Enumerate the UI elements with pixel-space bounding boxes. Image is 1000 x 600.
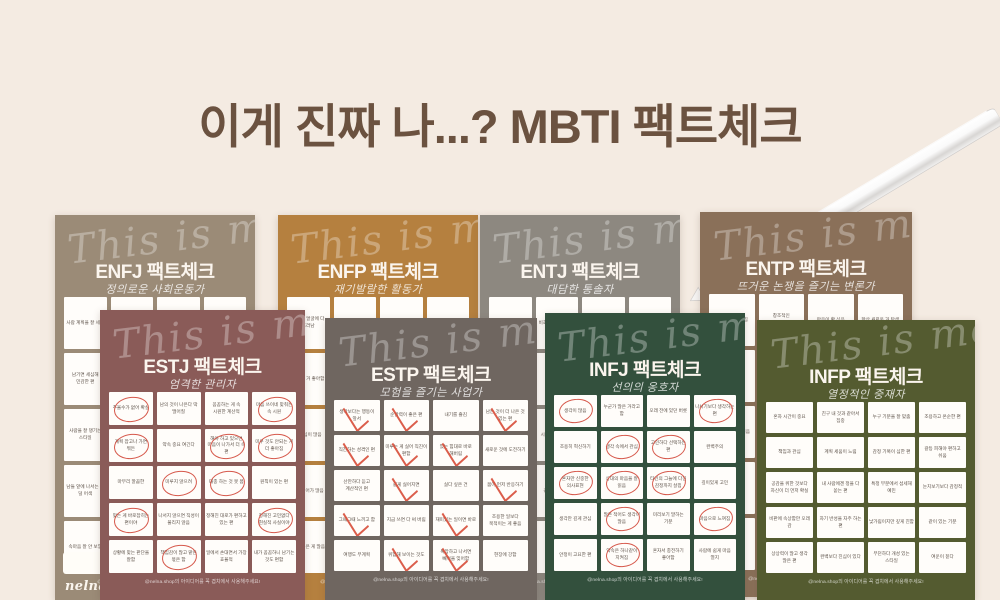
cell-label: 완벽보다 진심이 있다 [820,554,861,561]
cell-label: 계획 잡고나 가면 뭐든 [110,439,152,452]
cell-label: 내 사람에겐 정을 다 쏟는 편 [818,481,863,494]
cell-label: 정해진 대로가 편하고 있는 편 [206,513,248,526]
card-subtitle: 엄격한 관리자 [100,376,305,392]
card-subtitle: 정의로운 사회운동가 [55,281,255,297]
mbti-card-estp[interactable]: This is me!ESTP 팩트체크모험을 즐기는 사업가생각보다는 행동이… [325,318,537,600]
fact-check-cell[interactable]: 재미있는 일이면 바로 [433,505,479,536]
card-title: ENTP 팩트체크 [700,254,912,281]
fact-check-cell[interactable]: 갈등 피해야 편하고 쉬움 [919,437,966,468]
fact-check-cell[interactable]: 여운이 짙다 [919,542,966,573]
fact-check-cell[interactable]: 안정이 고요한 편 [554,539,597,571]
cell-label: 타인의 그늘에 다친 감정까지 살핌 [648,476,689,489]
card-header: This is me!INFP 팩트체크열정적인 중재자 [757,320,975,402]
fact-check-cell[interactable]: 무던하다 개성 있는 스타일 [868,542,915,573]
card-footer-credit: @nelna.shop의 아이디어를 꼭 겹치에서 사용해주세요! [100,573,305,585]
cell-label: 눈치보기보다 감정적 [923,484,962,491]
fact-check-cell[interactable]: 내가 꼼꼼하니 남기는 것도 편함 [252,540,296,573]
fact-check-cell[interactable]: 상대의 마음을 잘 읽음 [601,467,644,499]
cell-label: 혼자서 충전하기 좋아함 [648,548,689,561]
cell-label: 상상력이 많고 생각 많은 편 [767,551,812,564]
fact-check-cell[interactable]: 산만하다 듣고 계산적인 편 [334,470,380,501]
fact-check-cell[interactable]: 약속 중요 여긴다 [157,429,201,462]
fact-check-cell[interactable]: 생각보다는 행동이 앞서 [334,400,380,431]
mbti-card-infj[interactable]: This is me!INFJ 팩트체크선의의 옹호자생각이 많음누군가 많은 … [545,313,745,600]
cell-label: 누구 기분을 잘 맞춤 [873,414,911,421]
cell-label: 여행도 무계획 [343,552,370,559]
fact-check-cell[interactable]: 같이 있는 기분 [919,507,966,538]
cell-label: 비판에 속상함만 오래 감 [767,516,812,529]
card-title: INFP 팩트체크 [757,362,975,389]
fact-check-cell[interactable]: 고민하다 선택하는 편 [647,431,690,463]
fact-check-cell[interactable]: 정해진 고민없다 현실적 사실이야 [252,503,296,536]
fact-check-cell[interactable]: 누구 기분을 잘 맞춤 [868,402,915,433]
cell-label: 여운이 짙다 [931,554,953,561]
cell-label: 꼼꼼하는 게 속 시원한 계산적 [206,402,248,415]
cell-label: 누군가 많은 거라고 함 [602,404,643,417]
card-footer-credit: @nelna.shop의 아이디어를 꼭 겹치에서 사용해주세요! [325,571,537,583]
cell-label: 약속은 하나같이 지켜짐 [602,548,643,561]
cell-label: 나서기보다 생각하는 편 [695,404,736,417]
cell-label: 남는 것이 더 나은 것 있는 편 [484,409,528,422]
cell-label: 같이 있는 기분 [929,519,957,526]
cell-label: 나서지 않으면 직성이 풀리지 않음 [158,513,200,526]
cell-label: 내가 꼼꼼하니 남기는 것도 편함 [253,550,295,563]
card-footer-credit: @nelna.shop의 아이디어를 꼭 겹치에서 사용해주세요! [545,571,745,583]
fact-check-cell[interactable]: 남의 것이 나은다 딱 떨어질 [157,392,201,425]
cell-label: 깊이있게 고민 [701,480,728,487]
fact-check-cell[interactable]: 몸이 먼저 반응하기 [483,470,529,501]
fact-check-cell[interactable]: 특정 부분에서 섬세해 예민 [868,472,915,503]
fact-check-cell[interactable]: 상상력이 많고 생각 많은 편 [766,542,813,573]
cell-label: 직진하는 성격인 편 [339,447,375,454]
page-title: 이게 진짜 나...? MBTI 팩트체크 [0,88,1000,157]
fact-check-cell[interactable]: 눈치보기보다 감정적 [919,472,966,503]
cell-label: 공감을 위한 것보다 자신이 더 먼저 확실 [767,481,812,494]
cell-label: 미루지 않으려 [165,479,192,486]
fact-check-grid: 생각보다는 행동이 앞서순발력이 좋은 편내기를 즐김남는 것이 더 나은 것 … [325,400,537,571]
fact-check-cell[interactable]: 생각만 깊게 관심 [554,503,597,535]
fact-check-cell[interactable]: 미루지 않으려 [157,466,201,499]
fact-check-cell[interactable]: 여행도 무계획 [334,540,380,571]
fact-check-grid: 추울수가 없어 확실남의 것이 나은다 딱 떨어질꼼꼼하는 게 속 시원한 계산… [100,392,305,573]
fact-check-cell[interactable]: 쉽게 싫어지면 [384,470,430,501]
cell-label: 현장에 강함 [494,552,516,559]
fact-check-cell[interactable]: 낯가림이지만 깊게 친함 [868,507,915,538]
cell-label: 대충 하는 것 못 봄 [209,479,244,486]
cell-label: 상대의 마음을 잘 읽음 [602,476,643,489]
fact-check-cell[interactable]: 직진하는 성격인 편 [334,435,380,466]
fact-check-cell[interactable]: 깊이있게 고민 [694,467,737,499]
cell-label: 맞는 게 바로잡히는 편이야 [110,513,152,526]
cell-label: 몸이 먼저 반응하기 [487,482,523,489]
fact-check-cell[interactable]: 맞는 게 바로잡히는 편이야 [109,503,153,536]
fact-check-cell[interactable]: 혼자서 충전하기 좋아함 [647,539,690,571]
fact-check-cell[interactable]: 복잡하고 나서면 빼먹을 잊어함 [433,540,479,571]
fact-check-cell[interactable]: 계획 세움이 느림 [817,437,864,468]
fact-check-cell[interactable]: 말은 적어도 생각이 많음 [601,503,644,535]
fact-check-cell[interactable]: 그때그때 느끼고 함 [334,505,380,536]
card-subtitle: 선의의 옹호자 [545,379,745,395]
fact-check-cell[interactable]: 비판에 속상함만 오래 감 [766,507,813,538]
fact-check-cell[interactable]: 생각 속에서 관심 [601,431,644,463]
cell-label: 완벽주의 [706,444,723,451]
card-subtitle: 재기발랄한 활동가 [278,281,478,297]
cell-label: 쉽게 싫어지면 [393,482,420,489]
cell-label: 사람에 쉽게 마음 열지 [695,548,736,561]
fact-check-cell[interactable]: 대충 하는 것 못 봄 [205,466,249,499]
fact-check-cell[interactable]: 친구 내 것과 같아서 집중 [817,402,864,433]
cell-label: 낯가림이지만 깊게 친함 [869,519,914,526]
cell-label: 생각 속에서 관심 [606,444,638,451]
cell-label: 생각만 깊게 관심 [559,516,591,523]
card-subtitle: 대담한 통솔자 [480,281,680,297]
cell-label: 자기 반성을 자주 하는 편 [818,516,863,529]
fact-check-grid: 생각이 많음누군가 많은 거라고 함오래 전에 있던 버릇나서기보다 생각하는 … [545,395,745,571]
card-title: ESTJ 팩트체크 [100,352,305,379]
card-title: ENFJ 팩트체크 [55,257,255,284]
cell-label: 약속 중요 여긴다 [163,442,195,449]
fact-check-cell[interactable]: 새로운 것에 도전하기 [483,435,529,466]
cell-label: 혼자만 신중한 의사표현 [555,476,596,489]
cell-label: 조용하고 온순한 편 [924,414,960,421]
fact-check-cell[interactable]: 마음으로 느껴짐 [694,503,737,535]
fact-check-cell[interactable]: 지금 쓰면 다 써 버림 [384,505,430,536]
cell-label: 남의 것이 나은다 딱 떨어질 [158,402,200,415]
fact-check-cell[interactable]: 현장에 강함 [483,540,529,571]
cell-label: 조용한 일보다 북적이는 게 좋음 [484,514,528,527]
fact-check-cell[interactable]: 해야 하고 있으면 마음이 나가서 더 속 편 [205,429,249,462]
cell-label: 생각보다는 행동이 앞서 [335,409,379,422]
fact-check-cell[interactable]: 마무리 깔끔한 [109,466,153,499]
cell-label: 새로운 것에 도전하기 [485,447,526,454]
cell-label: 재미있는 일이면 바로 [435,517,476,524]
cell-label: 친구 내 것과 같아서 집중 [818,411,863,424]
fact-check-cell[interactable]: 완벽주의 [694,431,737,463]
card-title: ENTJ 팩트체크 [480,257,680,284]
fact-check-cell[interactable]: 약속은 하나같이 지켜짐 [601,539,644,571]
cell-label: 마음으로 느껴짐 [699,516,730,523]
fact-check-cell[interactable]: 내기를 즐김 [433,400,479,431]
fact-check-cell[interactable]: 마음 쓰이네 맞춰는 속 시원 [252,392,296,425]
cell-label: 계획 세움이 느림 [824,449,856,456]
card-footer-credit: @nelna.shop의 아이디어를 꼭 겹치에서 사용해주세요! [757,573,975,585]
card-title: INFJ 팩트체크 [545,355,745,382]
cell-label: 지금 쓰면 다 써 버림 [387,517,426,524]
card-title: ENFP 팩트체크 [278,257,478,284]
cell-label: 미루는 게 싫어 직진이 편함 [385,444,429,457]
card-title: ESTP 팩트체크 [325,360,537,387]
cell-label: 내기를 즐김 [445,412,467,419]
card-subtitle: 뜨거운 논쟁을 즐기는 변론가 [700,278,912,294]
fact-check-cell[interactable]: 타인의 그늘에 다친 감정까지 살핌 [647,467,690,499]
cell-label: 고민하다 선택하는 편 [648,440,689,453]
fact-check-cell[interactable]: 내 사람에겐 정을 다 쏟는 편 [817,472,864,503]
fact-check-cell[interactable]: 위험해 보이는 것도 [384,540,430,571]
fact-check-cell[interactable]: 있는 힘대로 바로 해버림 [433,435,479,466]
fact-check-cell[interactable]: 추울수가 없어 확실 [109,392,153,425]
mbti-card-estj[interactable]: This is me!ESTJ 팩트체크엄격한 관리자추울수가 없어 확실남의 … [100,310,305,600]
cell-label: 혼자 시간이 중요 [773,414,805,421]
cell-label: 정해진 고민없다 현실적 사실이야 [253,513,295,526]
cell-label: 안정이 고요한 편 [559,552,591,559]
card-header: This is me!ESTJ 팩트체크엄격한 관리자 [100,310,305,392]
cell-label: 산만하다 듣고 계산적인 편 [335,479,379,492]
cell-label: 상황에 맞는 판단을 잘함 [110,550,152,563]
card-subtitle: 열정적인 중재자 [757,386,975,402]
cell-label: 책임과 관심 [778,449,800,456]
cell-label: 위험해 보이는 것도 [388,552,424,559]
cell-label: 책임감이 많고 맡은 몫은 함 [158,550,200,563]
cell-label: 순발력이 좋은 편 [390,412,422,419]
fact-check-cell[interactable]: 일에서 손대면서 가장 효율적 [205,540,249,573]
fact-check-cell[interactable]: 정해진 대로가 편하고 있는 편 [205,503,249,536]
mbti-card-infp[interactable]: This is me!INFP 팩트체크열정적인 중재자혼자 시간이 중요친구 … [757,320,975,600]
fact-check-cell[interactable]: 조용한 일보다 북적이는 게 좋음 [483,505,529,536]
cell-label: 마무리 깔끔한 [118,479,145,486]
fact-check-cell[interactable]: 완벽보다 진심이 있다 [817,542,864,573]
cell-label: 그때그때 느끼고 함 [339,517,375,524]
fact-check-cell[interactable]: 누군가 많은 거라고 함 [601,395,644,427]
cell-label: 추울수가 없어 확실 [113,405,149,412]
fact-check-cell[interactable]: 책임과 관심 [766,437,813,468]
cell-label: 해야 하고 있으면 마음이 나가서 더 속 편 [206,436,248,456]
fact-check-cell[interactable]: 남는 것이 더 나은 것 있는 편 [483,400,529,431]
cell-label: 특정 부분에서 섬세해 예민 [869,481,914,494]
cell-label: 생각이 많음 [564,408,586,415]
fact-check-cell[interactable]: 생각이 많음 [554,395,597,427]
fact-check-cell[interactable]: 상황에 맞는 판단을 잘함 [109,540,153,573]
fact-check-cell[interactable]: 나서기보다 생각하는 편 [694,395,737,427]
fact-check-cell[interactable]: 책임감이 많고 맡은 몫은 함 [157,540,201,573]
cell-label: 말은 적어도 생각이 많음 [602,512,643,525]
card-header: This is me!ENTP 팩트체크뜨거운 논쟁을 즐기는 변론가 [700,212,912,294]
cell-label: 감정 기복이 심한 편 [873,449,911,456]
card-header: This is me!ENTJ 팩트체크대담한 통솔자 [480,215,680,297]
cell-label: 사람 계획을 잘 세움 [66,320,104,327]
card-header: This is me!ENFP 팩트체크재기발랄한 활동가 [278,215,478,297]
fact-check-cell[interactable]: 사람에 쉽게 마음 열지 [694,539,737,571]
card-subtitle: 모험을 즐기는 사업가 [325,384,537,400]
fact-check-cell[interactable]: 오래 전에 있던 버릇 [647,395,690,427]
cell-label: 복잡하고 나서면 빼먹을 잊어함 [434,549,478,562]
cell-label: 미리보기 말하는 기분 [648,512,689,525]
cell-label: 마음 쓰이네 맞춰는 속 시원 [253,402,295,415]
cell-label: 원칙이 있는 편 [260,479,288,486]
fact-check-cell[interactable]: 조용하고 온순한 편 [919,402,966,433]
fact-check-cell[interactable]: 꼼꼼하는 게 속 시원한 계산적 [205,392,249,425]
cell-label: 조용히 혁신하기 [560,444,591,451]
cell-label: 미우 것도 안되는 게 더 좋아짐 [253,439,295,452]
fact-check-grid: 혼자 시간이 중요친구 내 것과 같아서 집중누구 기분을 잘 맞춤조용하고 온… [757,402,975,573]
cell-label: 일에서 손대면서 가장 효율적 [206,550,248,563]
fact-check-cell[interactable]: 계획 잡고나 가면 뭐든 [109,429,153,462]
fact-check-cell[interactable]: 미루는 게 싫어 직진이 편함 [384,435,430,466]
cell-label: 속마음 잘 안 보임 [69,544,102,551]
fact-check-cell[interactable]: 조용히 혁신하기 [554,431,597,463]
fact-check-cell[interactable]: 공감을 위한 것보다 자신이 더 먼저 확실 [766,472,813,503]
cell-label: 있는 힘대로 바로 해버림 [434,444,478,457]
cell-label: 싫다 싶은 건 [444,482,468,489]
cell-label: 무던하다 개성 있는 스타일 [869,551,914,564]
fact-check-cell[interactable]: 나서지 않으면 직성이 풀리지 않음 [157,503,201,536]
card-header: This is me!ESTP 팩트체크모험을 즐기는 사업가 [325,318,537,400]
fact-check-cell[interactable]: 미리보기 말하는 기분 [647,503,690,535]
card-header: This is me!ENFJ 팩트체크정의로운 사회운동가 [55,215,255,297]
fact-check-cell[interactable]: 감정 기복이 심한 편 [868,437,915,468]
fact-check-cell[interactable]: 자기 반성을 자주 하는 편 [817,507,864,538]
fact-check-cell[interactable]: 순발력이 좋은 편 [384,400,430,431]
cell-label: 오래 전에 있던 버릇 [649,408,687,415]
card-header: This is me!INFJ 팩트체크선의의 옹호자 [545,313,745,395]
fact-check-cell[interactable]: 혼자만 신중한 의사표현 [554,467,597,499]
cell-label: 갈등 피해야 편하고 쉬움 [920,446,965,459]
fact-check-cell[interactable]: 원칙이 있는 편 [252,466,296,499]
fact-check-cell[interactable]: 미우 것도 안되는 게 더 좋아짐 [252,429,296,462]
fact-check-cell[interactable]: 혼자 시간이 중요 [766,402,813,433]
fact-check-cell[interactable]: 싫다 싶은 건 [433,470,479,501]
